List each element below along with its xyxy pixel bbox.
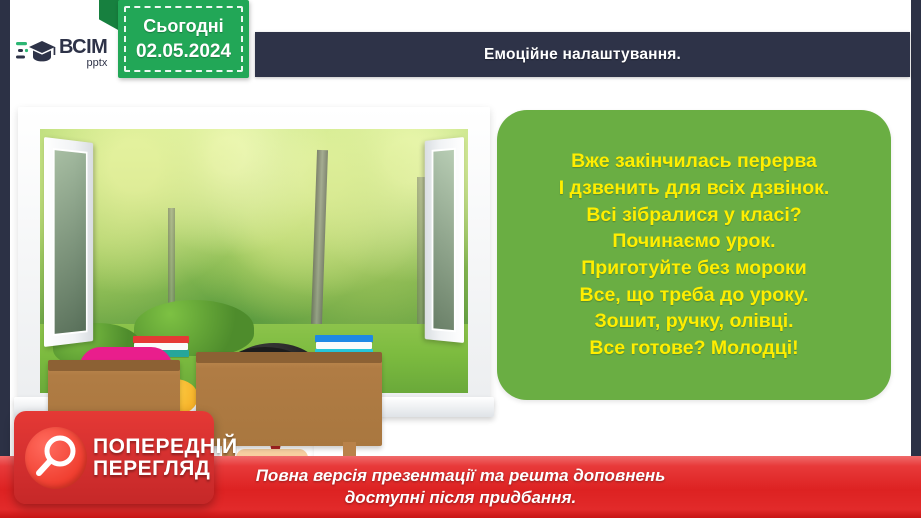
poem-line: Вже закінчилась перерва [571,148,817,175]
window-sash-left [44,137,93,347]
date-badge: Сьогодні 02.05.2024 [118,0,249,78]
page-title: Емоційне налаштування. [484,46,681,64]
desk-surface [48,360,180,371]
book-icon [315,335,373,342]
poem-line: І дзвенить для всіх дзвінок. [559,175,830,202]
banner-line-1: Повна версія презентації та решта доповн… [256,465,666,487]
preview-badge[interactable]: ПОПЕРЕДНІЙ ПЕРЕГЛЯД [14,411,214,504]
poem-card: Вже закінчилась перерва І дзвенить для в… [497,110,891,400]
logo-name: ВСІМ [59,37,107,57]
poem-line: Все, що треба до уроку. [580,282,809,309]
poem-line: Всі зібралися у класі? [586,202,801,229]
header-bar: Емоційне налаштування. [255,32,910,77]
preview-label: ПОПЕРЕДНІЙ ПЕРЕГЛЯД [93,436,238,479]
date-label: Сьогодні [143,16,223,37]
book-icon [133,336,189,343]
logo-wordmark: ВСІМ pptx [59,37,107,69]
slide: Вже закінчилась перерва І дзвенить для в… [0,0,921,518]
classroom-illustration [18,107,490,447]
poem-line: Зошит, ручку, олівці. [594,308,793,335]
desk-surface [196,352,382,363]
poem-line: Починаємо урок. [612,228,775,255]
magnifier-icon [25,427,87,489]
window-sash-right [425,137,464,343]
poem-line: Приготуйте без мороки [581,255,807,282]
preview-line-2: ПЕРЕГЛЯД [93,458,238,479]
banner-line-2: доступні після придбання. [345,487,576,509]
date-value: 02.05.2024 [136,41,231,63]
preview-icon-circle [25,427,87,489]
preview-line-1: ПОПЕРЕДНІЙ [93,436,238,457]
brand-logo[interactable]: ВСІМ pptx [10,27,118,79]
poem-line: Все готове? Молодці! [589,335,798,362]
graduation-cap-icon [16,36,56,70]
school-desk [196,352,382,446]
tree-trunk-icon [311,150,328,325]
logo-subtitle: pptx [59,58,107,69]
